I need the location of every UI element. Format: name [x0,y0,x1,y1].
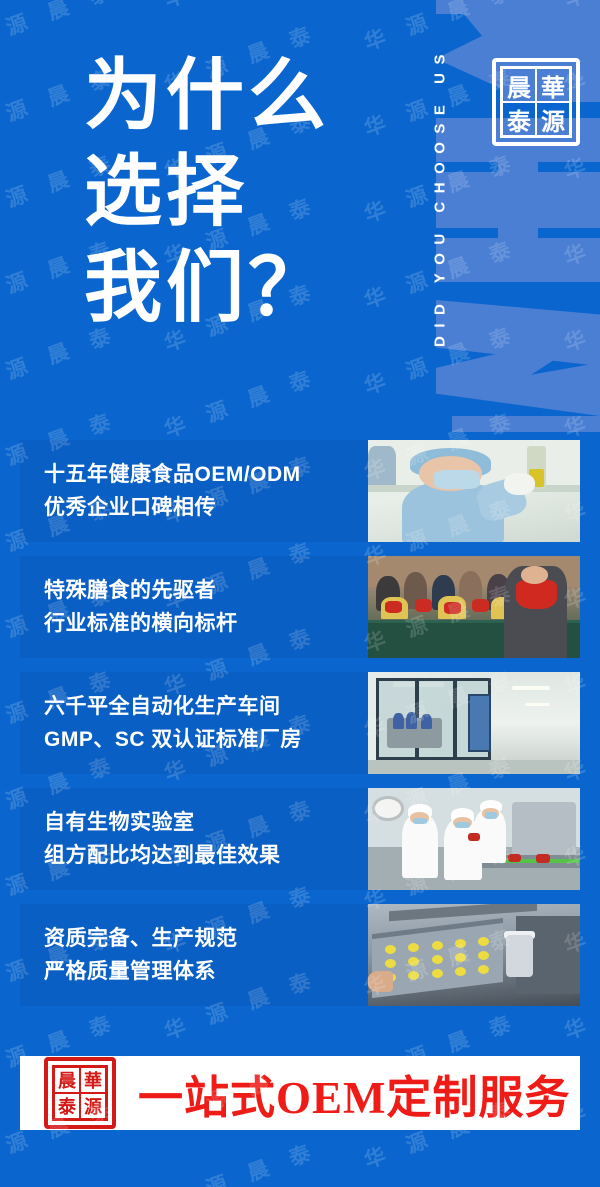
seal-char-top-right: 華 [80,1067,106,1093]
list-item: 自有生物实验室 组方配比均达到最佳效果 [20,788,580,890]
card-line-2: 行业标准的横向标杆 [44,607,368,640]
footer-slogan-text: 一站式OEM定制服务 [138,1061,571,1126]
card-text-block: 十五年健康食品OEM/ODM 优秀企业口碑相传 [20,440,368,542]
title-line-2: 选择 [84,144,330,240]
title-line-3: 我们？ [84,240,330,336]
feature-card-list: 十五年健康食品OEM/ODM 优秀企业口碑相传 特殊膳食的先驱者 行业标准的横向… [20,440,580,1020]
watermark-text: 华 源 晨 泰 [0,1177,123,1187]
company-seal-logo-white: 晨 華 泰 源 [492,58,580,146]
card-line-1: 特殊膳食的先驱者 [44,574,368,607]
card-line-1: 十五年健康食品OEM/ODM [44,458,368,491]
cleanroom-corridor-photo [368,672,580,774]
company-seal-logo-red: 晨 華 泰 源 [44,1057,116,1129]
vertical-english-text: DID YOU CHOOSE US [432,7,449,387]
vertical-english-tagline: DID YOU CHOOSE US [404,0,436,390]
seal-char-bottom-right: 源 [80,1093,106,1119]
lab-technician-photo [368,440,580,542]
footer-slogan-band: 晨 華 泰 源 一站式OEM定制服务 [20,1056,580,1130]
watermark-text: 华 源 晨 泰 [360,1177,523,1187]
poster-header: 为什么 选择 我们？ DID YOU CHOOSE US 晨 華 泰 源 [0,0,600,432]
conference-audience-photo [368,556,580,658]
list-item: 六千平全自动化生产车间 GMP、SC 双认证标准厂房 [20,672,580,774]
seal-char-bottom-left: 泰 [54,1093,80,1119]
seal-char-top-left: 晨 [502,68,536,102]
watermark-text: 华 源 晨 泰 [560,1134,600,1187]
card-text-block: 六千平全自动化生产车间 GMP、SC 双认证标准厂房 [20,672,368,774]
list-item: 资质完备、生产规范 严格质量管理体系 [20,904,580,1006]
card-line-2: GMP、SC 双认证标准厂房 [44,723,368,756]
card-text-block: 自有生物实验室 组方配比均达到最佳效果 [20,788,368,890]
seal-char-top-left: 晨 [54,1067,80,1093]
card-line-1: 资质完备、生产规范 [44,922,368,955]
blister-packaging-machine-photo [368,904,580,1006]
packaging-line-workers-photo [368,788,580,890]
title-line-1: 为什么 [84,48,330,144]
list-item: 十五年健康食品OEM/ODM 优秀企业口碑相传 [20,440,580,542]
card-text-block: 特殊膳食的先驱者 行业标准的横向标杆 [20,556,368,658]
card-line-2: 严格质量管理体系 [44,955,368,988]
card-line-2: 优秀企业口碑相传 [44,491,368,524]
page-title: 为什么 选择 我们？ [84,48,330,336]
card-text-block: 资质完备、生产规范 严格质量管理体系 [20,904,368,1006]
card-line-1: 自有生物实验室 [44,806,368,839]
seal-char-top-right: 華 [536,68,570,102]
card-line-2: 组方配比均达到最佳效果 [44,839,368,872]
card-line-1: 六千平全自动化生产车间 [44,690,368,723]
seal-char-bottom-right: 源 [536,102,570,136]
list-item: 特殊膳食的先驱者 行业标准的横向标杆 [20,556,580,658]
seal-char-bottom-left: 泰 [502,102,536,136]
watermark-text: 华 源 晨 泰 [160,1134,323,1187]
